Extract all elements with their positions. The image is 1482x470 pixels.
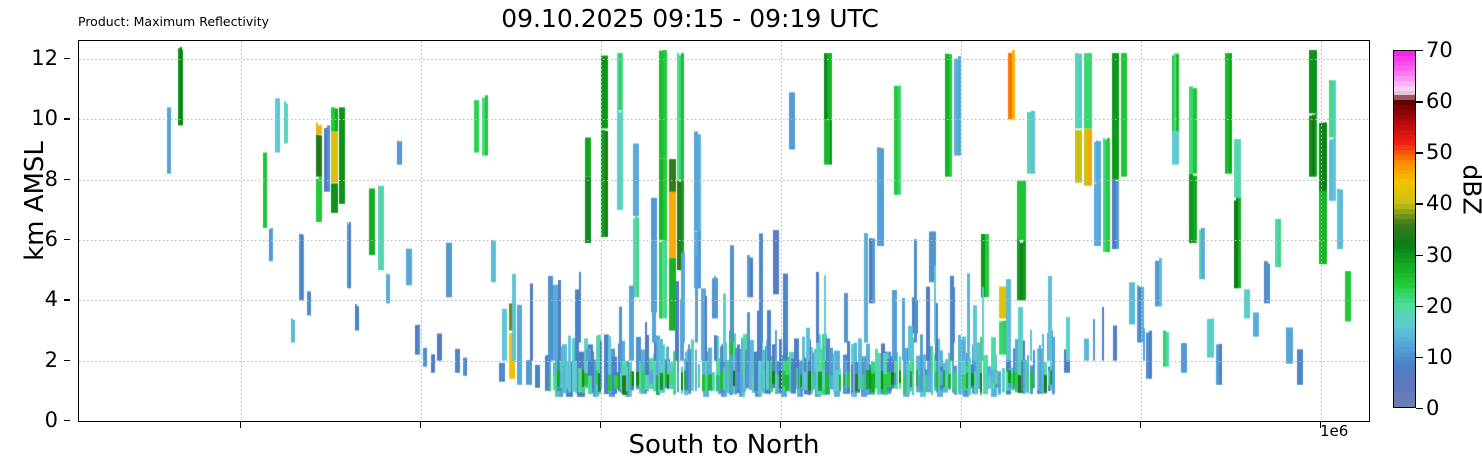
colorbar-tick-label: 70 (1426, 38, 1453, 62)
gridline-horizontal (79, 59, 1369, 60)
colorbar-tick-label: 30 (1426, 243, 1453, 267)
colorbar-tick-mark (1416, 203, 1423, 204)
colorbar-tick-label: 20 (1426, 294, 1453, 318)
y-axis-label: km AMSL (20, 71, 50, 331)
colorbar-tick-mark (1416, 50, 1423, 51)
y-tick-mark (64, 58, 70, 59)
plot-area[interactable] (78, 40, 1370, 422)
y-tick-mark (64, 239, 70, 240)
gridline-vertical (421, 41, 422, 421)
colorbar-tick-label: 50 (1426, 140, 1453, 164)
gridline-horizontal (79, 361, 1369, 362)
colorbar-label: dBZ (1458, 100, 1482, 280)
x-axis-offset-text: 1e6 (1320, 422, 1348, 440)
colorbar-tick-mark (1416, 357, 1423, 358)
colorbar-tick-mark (1416, 101, 1423, 102)
x-tick-mark (600, 422, 601, 428)
gridline-vertical (241, 41, 242, 421)
colorbar-tick-mark (1416, 408, 1423, 409)
colorbar[interactable] (1393, 50, 1416, 408)
x-axis-label: South to North (78, 430, 1370, 460)
colorbar-tick-mark (1416, 152, 1423, 153)
y-tick-mark (64, 118, 70, 119)
colorbar-tick-mark (1416, 306, 1423, 307)
y-tick-label: 0 (45, 408, 58, 432)
y-tick-label: 12 (31, 46, 58, 70)
x-tick-mark (420, 422, 421, 428)
x-tick-mark (1140, 422, 1141, 428)
x-axis (78, 422, 1370, 430)
colorbar-tick-label: 60 (1426, 89, 1453, 113)
gridline-horizontal (79, 240, 1369, 241)
x-tick-mark (240, 422, 241, 428)
radar-curtain-figure: 09.10.2025 09:15 - 09:19 UTC Product: Ma… (0, 0, 1482, 470)
gridline-horizontal (79, 180, 1369, 181)
colorbar-tick-mark (1416, 255, 1423, 256)
colorbar-tick-label: 0 (1426, 396, 1439, 420)
gridline-vertical (1321, 41, 1322, 421)
product-annotation: Product: Maximum Reflectivity (78, 14, 269, 29)
gridline-vertical (781, 41, 782, 421)
gridline-horizontal (79, 300, 1369, 301)
x-tick-mark (780, 422, 781, 428)
gridline-vertical (601, 41, 602, 421)
colorbar-tick-label: 10 (1426, 345, 1453, 369)
gridline-horizontal (79, 119, 1369, 120)
gridline-vertical (1141, 41, 1142, 421)
colorbar-band (1394, 402, 1415, 407)
y-tick-label: 2 (45, 348, 58, 372)
y-tick-mark (64, 420, 70, 421)
x-tick-mark (960, 422, 961, 428)
reflectivity-heatmap-canvas (79, 41, 1369, 421)
colorbar-tick-label: 40 (1426, 191, 1453, 215)
y-tick-mark (64, 299, 70, 300)
y-tick-mark (64, 179, 70, 180)
gridline-vertical (961, 41, 962, 421)
y-tick-mark (64, 360, 70, 361)
